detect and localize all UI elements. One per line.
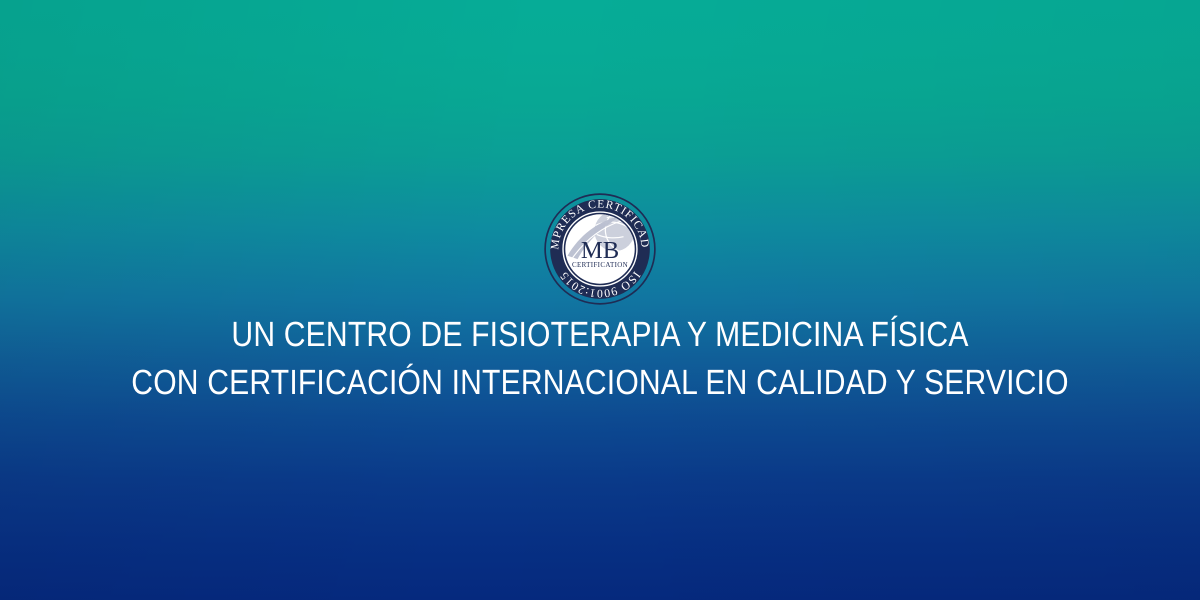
headline-line-2: CON CERTIFICACIÓN INTERNACIONAL EN CALID… xyxy=(84,359,1116,407)
seal-monogram-subtitle: CERTIFICATION xyxy=(572,261,628,269)
headline-line-1: UN CENTRO DE FISIOTERAPIA Y MEDICINA FÍS… xyxy=(84,311,1116,359)
hero-banner: EMPRESA CERTIFICADA ISO 9001:2015 MB CER… xyxy=(0,0,1200,600)
seal-monogram: MB xyxy=(581,237,619,264)
certification-seal: EMPRESA CERTIFICADA ISO 9001:2015 MB CER… xyxy=(544,193,656,305)
banner-headline: UN CENTRO DE FISIOTERAPIA Y MEDICINA FÍS… xyxy=(84,311,1116,407)
mb-certification-seal-icon: EMPRESA CERTIFICADA ISO 9001:2015 MB CER… xyxy=(544,193,656,305)
